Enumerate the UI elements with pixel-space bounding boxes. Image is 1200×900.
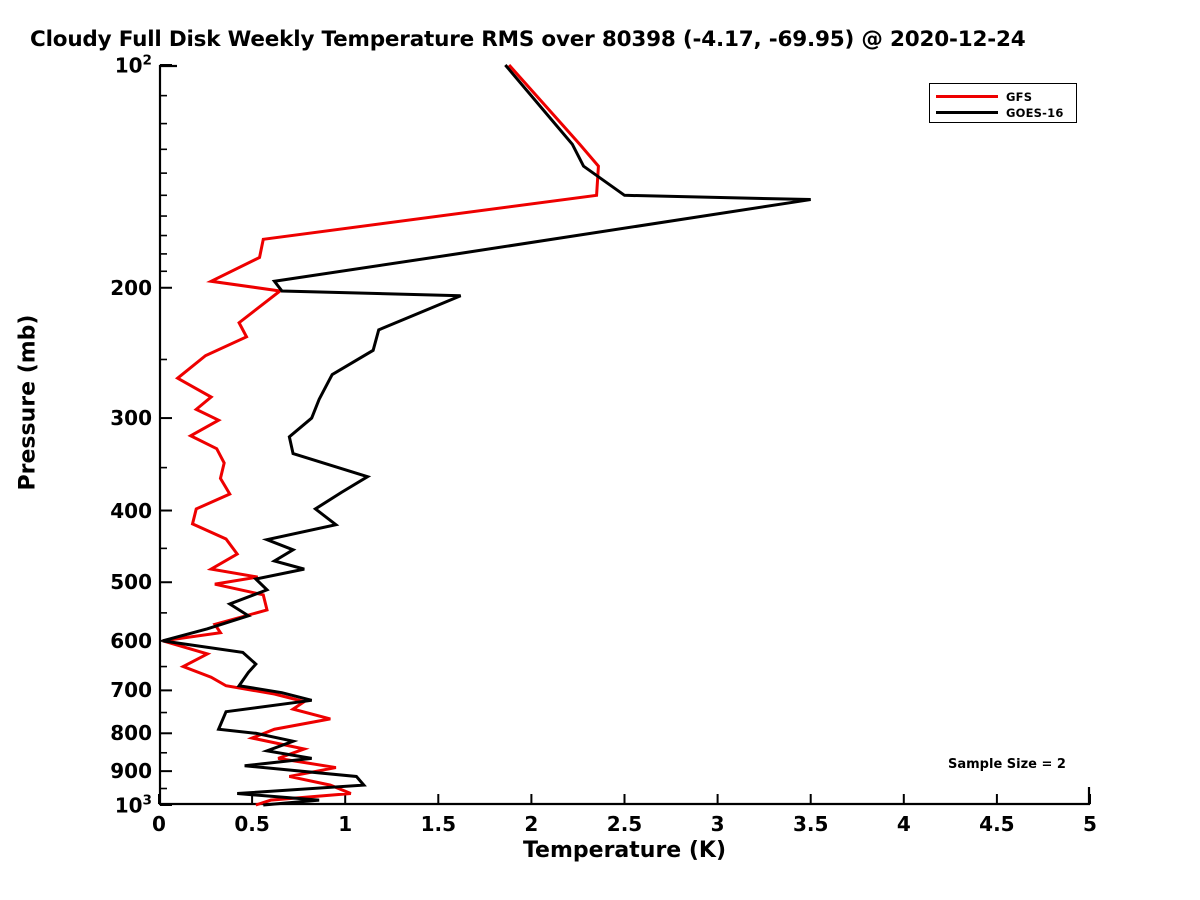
sample-size-annotation: Sample Size = 2 — [948, 757, 1066, 772]
axis-tick-marks — [159, 65, 1090, 805]
legend-swatch-gfs — [936, 95, 998, 98]
y-tick-label: 600 — [110, 629, 152, 653]
x-tick-label: 3 — [711, 812, 725, 836]
legend-entry[interactable]: GOES-16 — [936, 105, 1070, 120]
legend-label: GFS — [1006, 90, 1032, 104]
legend: GFSGOES-16 — [929, 83, 1077, 123]
axis-spines — [159, 65, 1090, 805]
series-line-goes-16 — [163, 65, 811, 805]
chart-figure: Cloudy Full Disk Weekly Temperature RMS … — [0, 0, 1200, 900]
x-tick-label: 3.5 — [793, 812, 828, 836]
plot-area — [159, 65, 1090, 805]
y-tick-label: 900 — [110, 759, 152, 783]
x-axis-tick-labels: 00.511.522.533.544.55 — [159, 812, 1090, 842]
x-tick-label: 4.5 — [979, 812, 1014, 836]
x-tick-label: 2.5 — [607, 812, 642, 836]
y-tick-label: 400 — [110, 499, 152, 523]
x-tick-label: 0 — [152, 812, 166, 836]
chart-title: Cloudy Full Disk Weekly Temperature RMS … — [30, 27, 1026, 52]
y-tick-label: 300 — [110, 406, 152, 430]
x-tick-label: 5 — [1083, 812, 1097, 836]
data-series-group — [163, 65, 811, 805]
legend-label: GOES-16 — [1006, 106, 1064, 120]
y-tick-label: 102 — [115, 53, 152, 78]
x-tick-label: 2 — [524, 812, 538, 836]
x-tick-label: 4 — [897, 812, 911, 836]
y-tick-label: 800 — [110, 721, 152, 745]
y-axis-tick-labels: 102200300400500600700800900103 — [60, 65, 152, 805]
x-tick-label: 0.5 — [234, 812, 269, 836]
series-line-gfs — [163, 65, 599, 805]
plot-canvas — [159, 65, 1090, 805]
y-tick-label: 700 — [110, 678, 152, 702]
y-tick-label: 103 — [115, 793, 152, 818]
x-tick-label: 1 — [338, 812, 352, 836]
x-tick-label: 1.5 — [421, 812, 456, 836]
y-tick-label: 200 — [110, 276, 152, 300]
legend-swatch-goes-16 — [936, 111, 998, 114]
legend-entry[interactable]: GFS — [936, 89, 1070, 104]
y-tick-label: 500 — [110, 570, 152, 594]
y-axis-label: Pressure (mb) — [16, 293, 41, 513]
